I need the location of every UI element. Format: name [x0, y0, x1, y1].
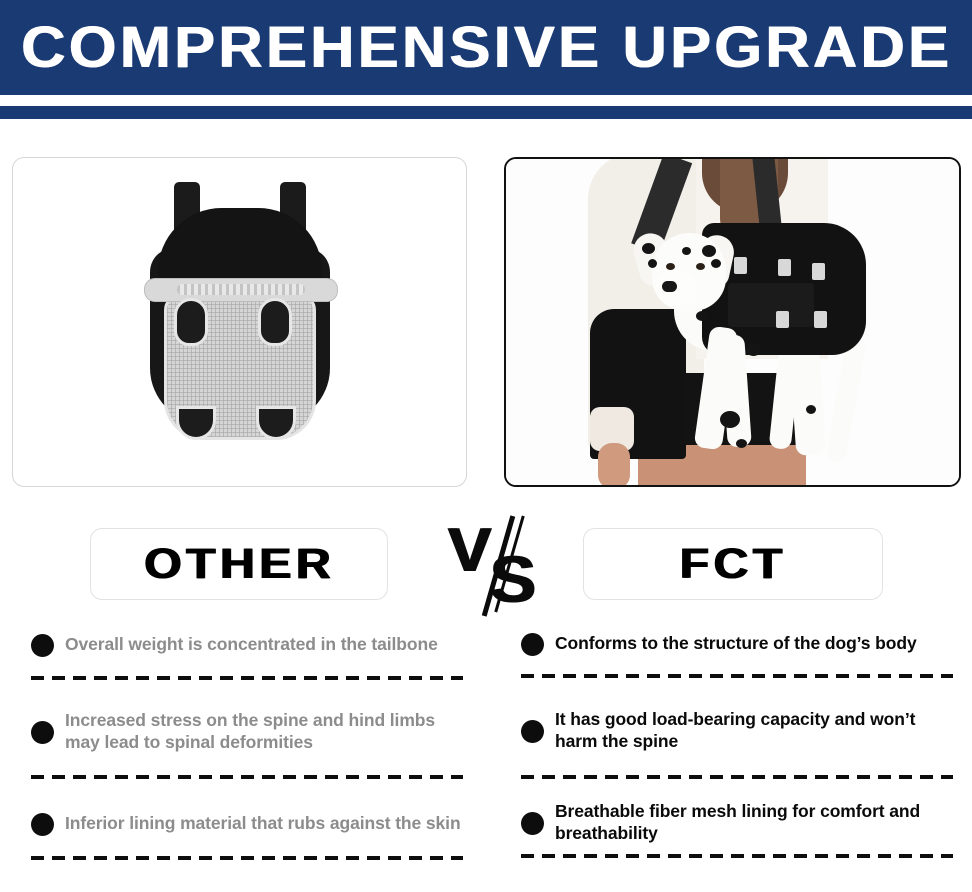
spacer	[521, 779, 953, 792]
feature-column-other: Overall weight is concentrated in the ta…	[31, 614, 463, 860]
product-image-fct	[504, 157, 961, 487]
list-item-label: Conforms to the structure of the dog’s b…	[555, 633, 917, 655]
list-item: Inferior lining material that rubs again…	[31, 792, 463, 856]
dog-spot	[682, 247, 691, 255]
bullet-icon	[31, 634, 54, 657]
dog-spot	[746, 343, 761, 356]
bullet-icon	[521, 720, 544, 743]
list-item-label: Breathable fiber mesh lining for comfort…	[555, 801, 953, 844]
list-item: It has good load-bearing capacity and wo…	[521, 687, 953, 775]
mesh-carrier-illustration	[120, 182, 360, 462]
fct-carrier-pocket	[728, 283, 814, 327]
bullet-icon	[31, 813, 54, 836]
fct-carrier-buckle	[734, 257, 747, 274]
spacer	[31, 779, 463, 792]
fct-carrier-handle	[734, 235, 820, 261]
label-fct: FCT	[679, 543, 786, 586]
product-image-row	[0, 157, 972, 487]
feature-comparison-lists: Overall weight is concentrated in the ta…	[0, 614, 972, 892]
list-item-label: Increased stress on the spine and hind l…	[65, 710, 463, 753]
label-box-other: OTHER	[90, 528, 388, 600]
spacer	[521, 678, 953, 687]
bullet-icon	[521, 812, 544, 835]
spacer	[31, 680, 463, 689]
list-item: Increased stress on the spine and hind l…	[31, 689, 463, 775]
fct-carrier-buckle	[776, 311, 789, 328]
vs-letter-v: V	[447, 520, 490, 582]
person-hand	[598, 443, 630, 487]
comparison-header-row: OTHER V S FCT	[0, 528, 972, 600]
dog-spot	[806, 405, 816, 414]
dog-eye-right	[696, 263, 705, 270]
lifestyle-photo	[506, 159, 959, 485]
vs-icon: V S	[446, 516, 550, 616]
dog-nose	[662, 281, 677, 292]
dog-spot	[736, 439, 747, 448]
list-item: Conforms to the structure of the dog’s b…	[521, 614, 953, 674]
dog-eye-left	[666, 263, 675, 270]
list-item-label: It has good load-bearing capacity and wo…	[555, 709, 953, 752]
dog-tail	[825, 336, 867, 464]
fct-carrier-buckle	[812, 263, 825, 280]
fct-carrier-buckle	[778, 259, 791, 276]
dog-spot	[696, 311, 708, 321]
bullet-icon	[521, 633, 544, 656]
carrier-front-leg-hole-right	[258, 298, 292, 346]
feature-column-fct: Conforms to the structure of the dog’s b…	[521, 614, 953, 858]
bullet-icon	[31, 721, 54, 744]
header-banner: COMPREHENSIVE UPGRADE	[0, 0, 972, 95]
header-accent-stripe	[0, 106, 972, 119]
product-image-other	[12, 157, 467, 487]
dog-spot	[648, 259, 657, 268]
dog-spot	[702, 245, 716, 257]
dog-spot	[642, 243, 655, 254]
label-box-fct: FCT	[583, 528, 883, 600]
dog-spot	[711, 259, 721, 268]
fct-carrier-buckle	[814, 311, 827, 328]
list-item-label: Overall weight is concentrated in the ta…	[65, 634, 438, 656]
list-item: Overall weight is concentrated in the ta…	[31, 614, 463, 676]
list-item-label: Inferior lining material that rubs again…	[65, 813, 461, 835]
list-item: Breathable fiber mesh lining for comfort…	[521, 792, 953, 854]
list-divider	[521, 854, 953, 858]
label-other: OTHER	[144, 543, 335, 586]
carrier-front-leg-hole-left	[174, 298, 208, 346]
page-title: COMPREHENSIVE UPGRADE	[20, 19, 951, 77]
carrier-elastic-band	[144, 278, 338, 302]
list-divider	[31, 856, 463, 860]
dog-spot	[720, 411, 740, 428]
